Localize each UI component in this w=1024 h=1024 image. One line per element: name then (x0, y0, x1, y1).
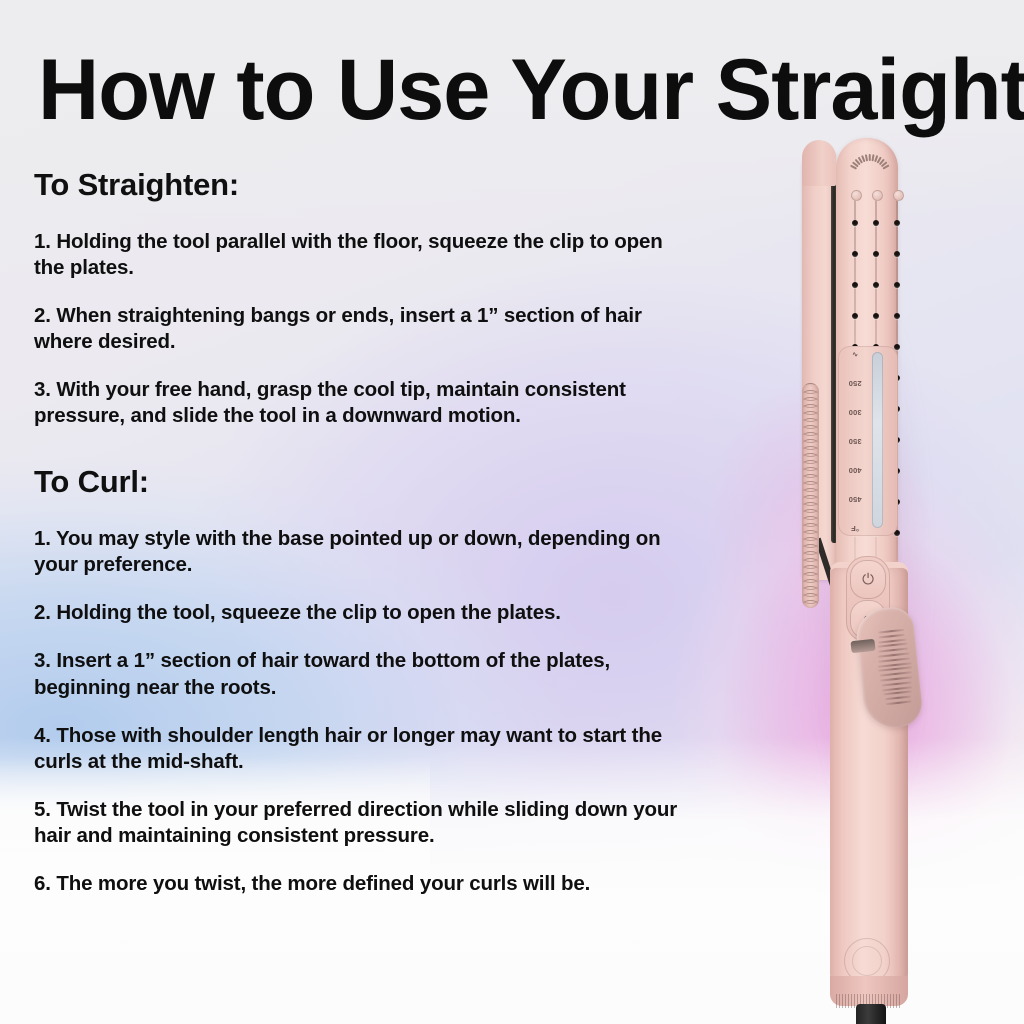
screw-detail (851, 190, 862, 201)
temperature-mark: 250 (848, 379, 861, 387)
vent-hole (873, 282, 879, 288)
swivel-ridge (845, 994, 846, 1008)
temperature-mark: °F (851, 525, 859, 533)
temperature-slider[interactable] (872, 352, 883, 528)
vent-hole (894, 251, 900, 257)
step-item: 1. You may style with the base pointed u… (34, 526, 694, 578)
power-button[interactable]: ⏻ (850, 560, 886, 599)
grip-weave (803, 603, 818, 608)
swivel-ridge (851, 994, 852, 1008)
instruction-graphic: How to Use Your Straightener To Straight… (0, 0, 1024, 1024)
temperature-mark: 450 (848, 495, 861, 503)
clip-slot (850, 639, 875, 653)
step-item: 1. Holding the tool parallel with the fl… (34, 229, 694, 281)
vent-hole (873, 313, 879, 319)
vent-hole (873, 220, 879, 226)
cool-tip (802, 140, 836, 186)
step-item: 5. Twist the tool in your preferred dire… (34, 797, 694, 849)
swivel-ridge (839, 994, 840, 1008)
swivel-ridge (890, 994, 891, 1008)
product-image-straightener: °F450400350300250∿ ⏻ ∿ (800, 138, 935, 988)
swivel-ridge (848, 994, 849, 1008)
vent-hole (852, 313, 858, 319)
vent-hole (894, 220, 900, 226)
step-item: 6. The more you twist, the more defined … (34, 871, 694, 897)
swivel-ridge (836, 994, 837, 1008)
temperature-mark: 350 (848, 437, 861, 445)
section-heading-curl: To Curl: (34, 465, 694, 499)
vent-hole (873, 251, 879, 257)
power-cord-base (856, 1004, 886, 1024)
step-item: 3. With your free hand, grasp the cool t… (34, 377, 694, 429)
step-item: 2. When straightening bangs or ends, ins… (34, 303, 694, 355)
clip-rib (878, 657, 910, 662)
step-item: 3. Insert a 1” section of hair toward th… (34, 648, 694, 700)
swivel-ring-inner (852, 946, 882, 976)
screw-detail (872, 190, 883, 201)
screw-detail (893, 190, 904, 201)
instructions-column: To Straighten: 1. Holding the tool paral… (34, 168, 694, 897)
clip-rib (878, 634, 905, 639)
swivel-ridge (887, 994, 888, 1008)
swivel-ridge (842, 994, 843, 1008)
vent-hole (852, 251, 858, 257)
step-item: 4. Those with shoulder length hair or lo… (34, 723, 694, 775)
clip-rib (885, 696, 912, 701)
clip-rib (882, 681, 912, 686)
vent-hole (894, 282, 900, 288)
temperature-mark: 400 (848, 466, 861, 474)
page-title: How to Use Your Straightener (38, 47, 1024, 133)
vent-hole (852, 282, 858, 288)
section-heading-straighten: To Straighten: (34, 168, 694, 202)
vent-arc (850, 154, 890, 176)
swivel-ridge (893, 994, 894, 1008)
step-item: 2. Holding the tool, squeeze the clip to… (34, 600, 694, 626)
clip-rib (886, 700, 912, 705)
swivel-ridge (896, 994, 897, 1008)
temperature-scale-labels: °F450400350300250∿ (840, 350, 870, 532)
vent-hole (894, 313, 900, 319)
textured-grip (802, 383, 819, 608)
temperature-mark: 300 (848, 408, 861, 416)
temperature-mark: ∿ (852, 350, 858, 358)
vent-hole (852, 220, 858, 226)
swivel-ridge (899, 994, 900, 1008)
